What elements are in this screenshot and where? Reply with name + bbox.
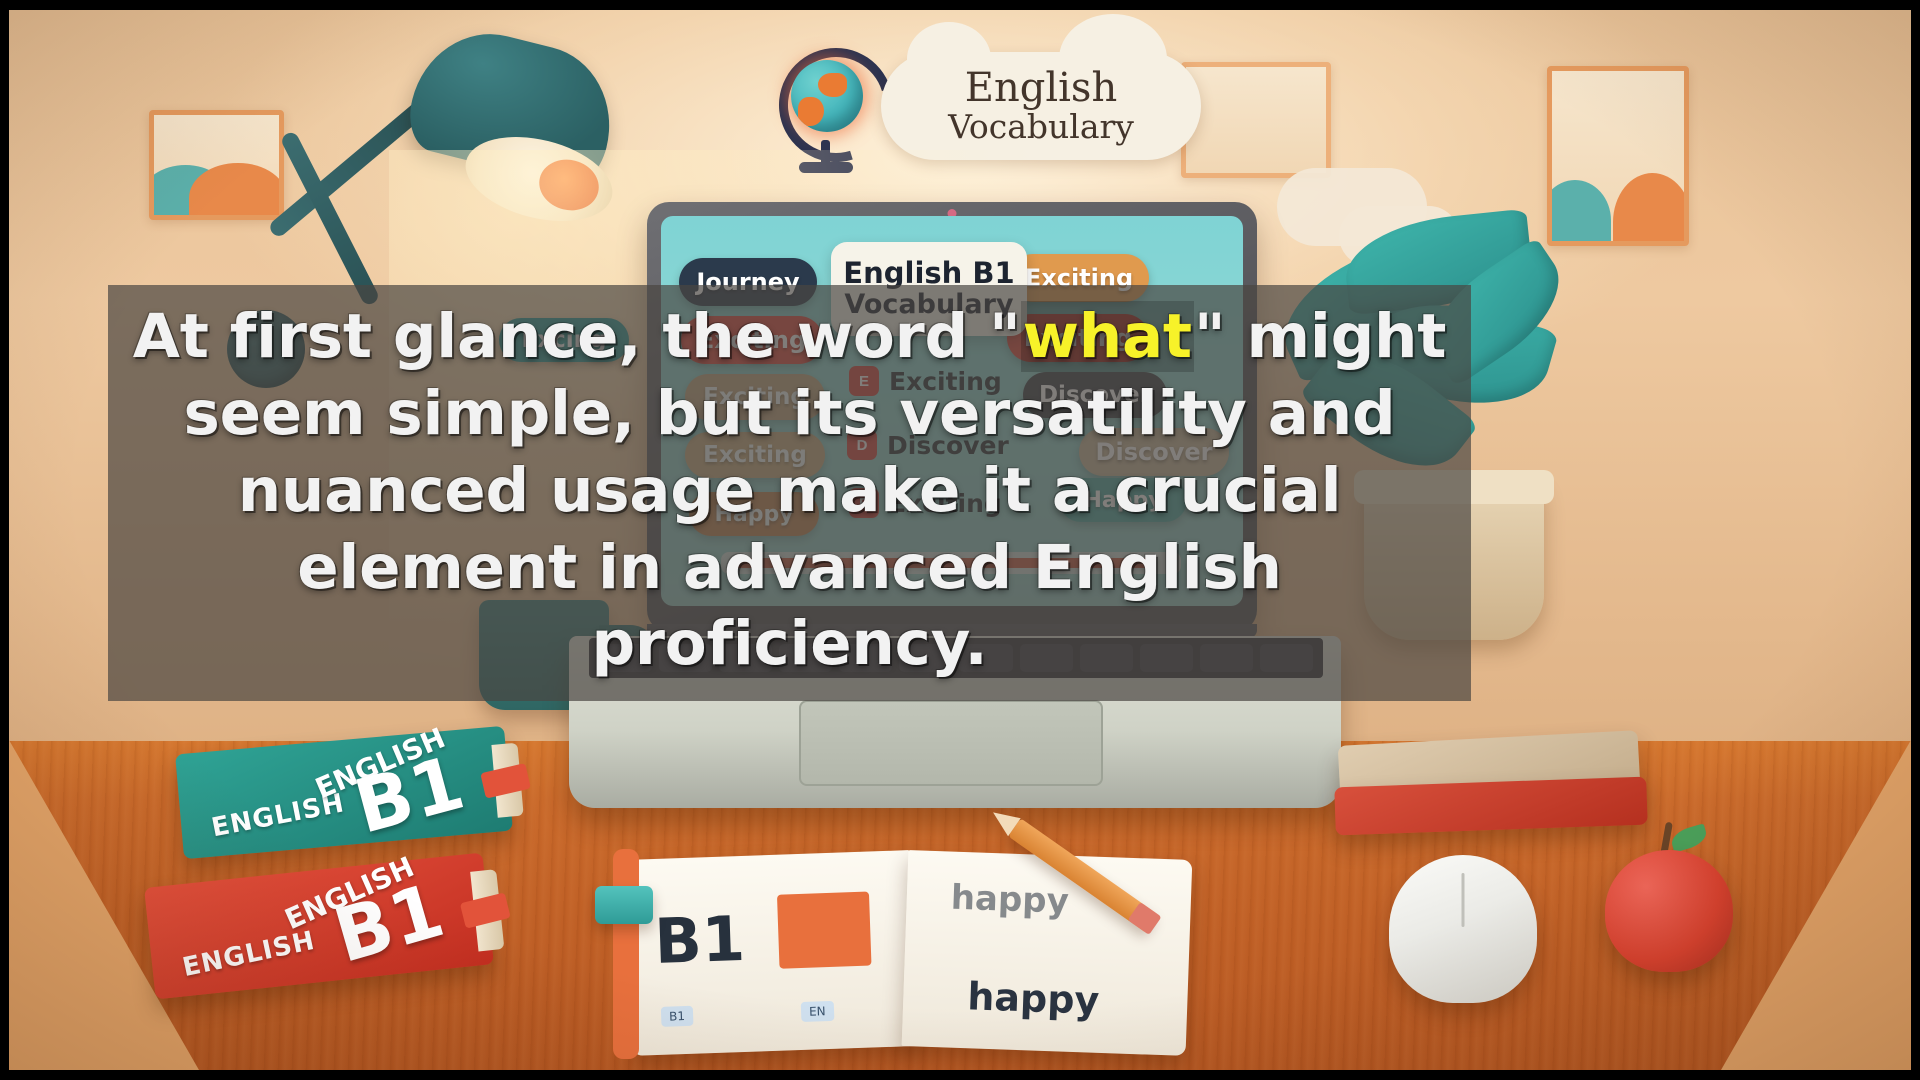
subtitle-highlighted-word: what <box>1021 301 1194 372</box>
laptop-trackpad[interactable] <box>799 700 1103 786</box>
mouse-scroll-divider <box>1462 873 1465 927</box>
notebook-word-bottom: happy <box>967 974 1100 1023</box>
wall-banner-line1: English <box>965 67 1117 109</box>
notebook-tag-1: B1 <box>661 1006 694 1027</box>
globe-icon <box>779 48 899 188</box>
video-frame: English Vocabulary Excing <box>0 0 1920 1080</box>
wall-banner: English Vocabulary <box>881 52 1201 160</box>
subtitle-text: At first glance, the word "what" might s… <box>126 299 1453 683</box>
desk-edge-right <box>1721 740 1911 1070</box>
notebook-swatch <box>777 892 872 969</box>
wall-note-board <box>1181 62 1331 178</box>
wall-picture-frame-right <box>1547 66 1689 246</box>
notebook-level-label: B1 <box>653 902 746 978</box>
subtitle-segment-1: At first glance, the word " <box>133 301 1021 372</box>
notebook-left-page: B1 B1 EN <box>626 850 917 1056</box>
notebook-binder <box>613 849 639 1059</box>
letterbox-bar-left <box>0 0 9 1080</box>
notebook-tag-2: EN <box>801 1001 834 1022</box>
letterbox-bar-bottom <box>0 1070 1920 1080</box>
apple <box>1605 850 1733 972</box>
wall-picture-frame-left <box>149 110 284 220</box>
letterbox-bar-right <box>1911 0 1920 1080</box>
notebook-word-top: happy <box>950 878 1069 922</box>
notebook-right-page: happy happy <box>902 850 1193 1056</box>
computer-mouse[interactable] <box>1389 855 1537 1003</box>
wall-banner-line2: Vocabulary <box>948 110 1134 145</box>
eraser <box>595 886 653 924</box>
subtitle-overlay: At first glance, the word "what" might s… <box>108 285 1471 701</box>
letterbox-bar-top <box>0 0 1920 10</box>
